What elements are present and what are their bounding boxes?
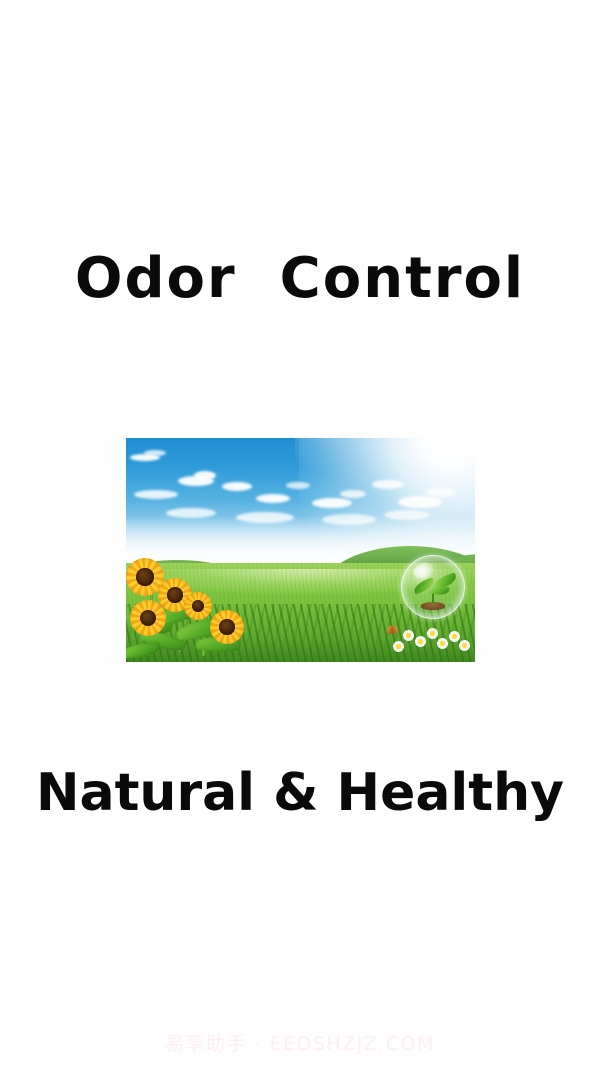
bubble-with-seedling xyxy=(401,555,465,619)
cloud-icon xyxy=(144,450,166,456)
watermark: 易享助手 · EEDSHZJZ.COM xyxy=(0,1029,600,1056)
daisy xyxy=(437,638,448,649)
daisy-core xyxy=(430,631,434,635)
butterfly-icon xyxy=(387,626,398,635)
cloud-icon xyxy=(256,494,290,503)
daisy-core xyxy=(462,643,466,647)
daisy-core xyxy=(396,644,400,648)
sunflower-cluster xyxy=(126,544,262,662)
cloud-icon xyxy=(384,510,430,520)
cloud-icon xyxy=(312,498,352,508)
sunflower xyxy=(184,592,212,620)
cloud-icon xyxy=(166,508,216,518)
cloud-icon xyxy=(236,512,294,523)
daisy-core xyxy=(452,634,456,638)
cloud-icon xyxy=(340,490,366,498)
hero-image xyxy=(126,438,475,662)
daisy-core xyxy=(406,633,410,637)
sunflower-core xyxy=(167,587,183,603)
daisy xyxy=(403,630,414,641)
cloud-icon xyxy=(222,482,252,491)
daisy-core xyxy=(440,641,444,645)
sunflower xyxy=(130,600,166,636)
cloud-icon xyxy=(194,471,216,480)
page-tagline: Natural & Healthy xyxy=(0,765,600,822)
cloud-icon xyxy=(372,480,404,489)
daisy xyxy=(459,640,470,651)
cloud-icon xyxy=(134,490,178,499)
sunflower-core xyxy=(136,568,153,585)
cloud-icon xyxy=(322,514,376,525)
sunflower xyxy=(210,610,244,644)
daisy xyxy=(415,636,426,647)
sunflower-leaf xyxy=(126,642,161,659)
cloud-icon xyxy=(286,482,310,489)
daisy xyxy=(393,641,404,652)
daisy-cluster xyxy=(385,624,471,660)
sunflower-core xyxy=(219,619,235,635)
cloud-icon xyxy=(426,488,456,497)
poster-page: Odor Control xyxy=(0,0,600,1067)
page-title: Odor Control xyxy=(0,248,600,310)
cloud-icon xyxy=(398,496,442,508)
butterfly-wing xyxy=(391,625,399,634)
daisy-core xyxy=(418,639,422,643)
